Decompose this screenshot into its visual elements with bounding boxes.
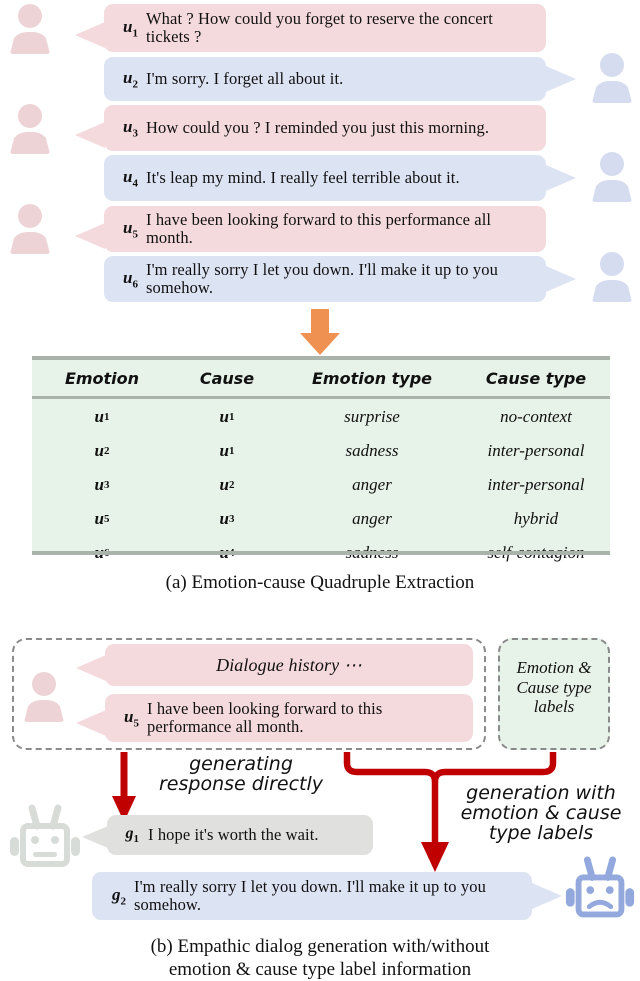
response-bubble-g2[interactable]: g2 I'm really sorry I let you down. I'll…	[92, 872, 532, 920]
bubble-tail-g2	[532, 883, 562, 909]
bubble-tail-g1	[82, 826, 108, 848]
response-bubble-g1[interactable]: g1 I hope it's worth the wait.	[107, 815, 373, 855]
red-arrow-direct-icon	[112, 752, 136, 822]
figure-root: u1 What ? How could you forget to reserv…	[0, 0, 640, 978]
annotation-generation-with-labels: generation with emotion & cause type lab…	[442, 784, 640, 844]
robot-grey-icon	[6, 804, 84, 882]
response-id-g2: g2	[100, 885, 126, 907]
annotation-right-line-1: generation with	[442, 784, 640, 804]
response-text-g1: I hope it's worth the wait.	[148, 826, 319, 844]
response-text-g2: I'm really sorry I let you down. I'll ma…	[134, 878, 522, 915]
response-id-g1: g1	[115, 825, 139, 845]
annotation-right-line-2: emotion & cause	[442, 804, 640, 824]
panel-b-caption-line-1: (b) Empathic dialog generation with/with…	[0, 936, 640, 958]
annotation-generating-response: generating response directly	[136, 755, 346, 795]
annotation-right-line-3: type labels	[442, 824, 640, 844]
red-arrowhead-icon	[421, 842, 449, 872]
annotation-left-line-2: response directly	[136, 775, 346, 795]
annotation-left-line-1: generating	[136, 755, 346, 775]
robot-blue-sad-icon	[562, 856, 638, 932]
